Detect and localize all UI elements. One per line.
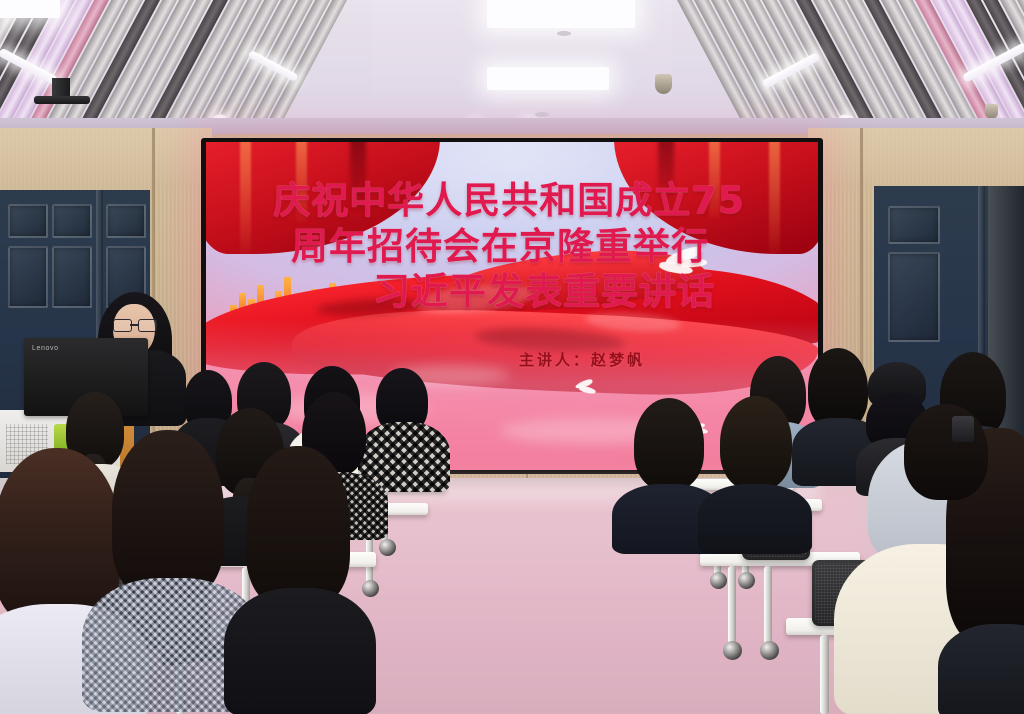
glasses-icon [113,319,155,330]
desk-right-row-3-caster-a [723,641,742,660]
ceiling-led-panel-top [487,0,635,28]
lenovo-logo: Lenovo [32,345,59,352]
dove-small-mid [573,381,599,395]
desk-right-row-3-caster-b [760,641,779,660]
glasses-lens-right [138,319,157,332]
desk-right-row-3-leg-b [764,566,772,644]
ceiling-led-panel-left-edge [0,0,60,18]
lecture-hall-photo: 庆祝中华人民共和国成立75 周年招待会在京隆重举行 习近平发表重要讲话 主讲人：… [0,0,1024,714]
desk-left-row-1-caster [379,539,396,556]
ceiling-sprinkler-1 [557,31,571,36]
glasses-bridge [130,324,138,326]
door-left-panel-tm [52,204,92,238]
torso [224,588,376,714]
audience-member-right-hairclip [894,404,1004,534]
wall-left-upper-band [0,128,212,190]
dove-small-wing-2 [579,385,597,395]
dome-camera-ceiling [655,74,672,94]
audience-member-front-center [234,446,364,714]
ceiling-slats-left [0,0,400,132]
door-left-panel-tl [8,204,48,238]
audience-member-mid-5 [706,396,802,548]
hair-long [112,430,224,598]
ceiling [0,0,1024,132]
desk-right-row-2-caster-b [738,572,755,589]
dome-camera-right-slat [985,104,998,119]
torso [698,484,812,554]
desk-right-row-2-caster-a [710,572,727,589]
ceiling-slats-right [624,0,1024,132]
ceiling-led-panel-mid [487,67,609,90]
hair [904,404,988,500]
door-right-panel-bottom [888,252,940,342]
hair-long [246,446,350,606]
monitor-base [34,96,90,104]
desk-right-row-3-leg-a [728,566,736,644]
door-left-panel-tr [106,204,146,238]
hair [634,398,704,490]
desk-right-row-4-leg-a [820,635,829,714]
door-right-panel-top [888,206,940,244]
screen-title-block: 庆祝中华人民共和国成立75 周年招待会在京隆重举行 习近平发表重要讲话 [206,178,818,315]
torso [938,624,1024,714]
monitor-neck [52,78,70,98]
ceiling-sprinkler-2 [535,112,549,117]
hair-clip [952,416,974,442]
door-left-panel-bm [52,246,92,308]
screen-title-line-2: 周年招待会在京隆重举行 [206,224,818,270]
screen-title-line-1: 庆祝中华人民共和国成立75 [206,178,818,224]
door-left-panel-bl [8,246,48,308]
screen-title-line-3: 习近平发表重要讲话 [206,269,818,315]
desk-left-row-2-caster-b [362,580,379,597]
hair [720,396,792,490]
